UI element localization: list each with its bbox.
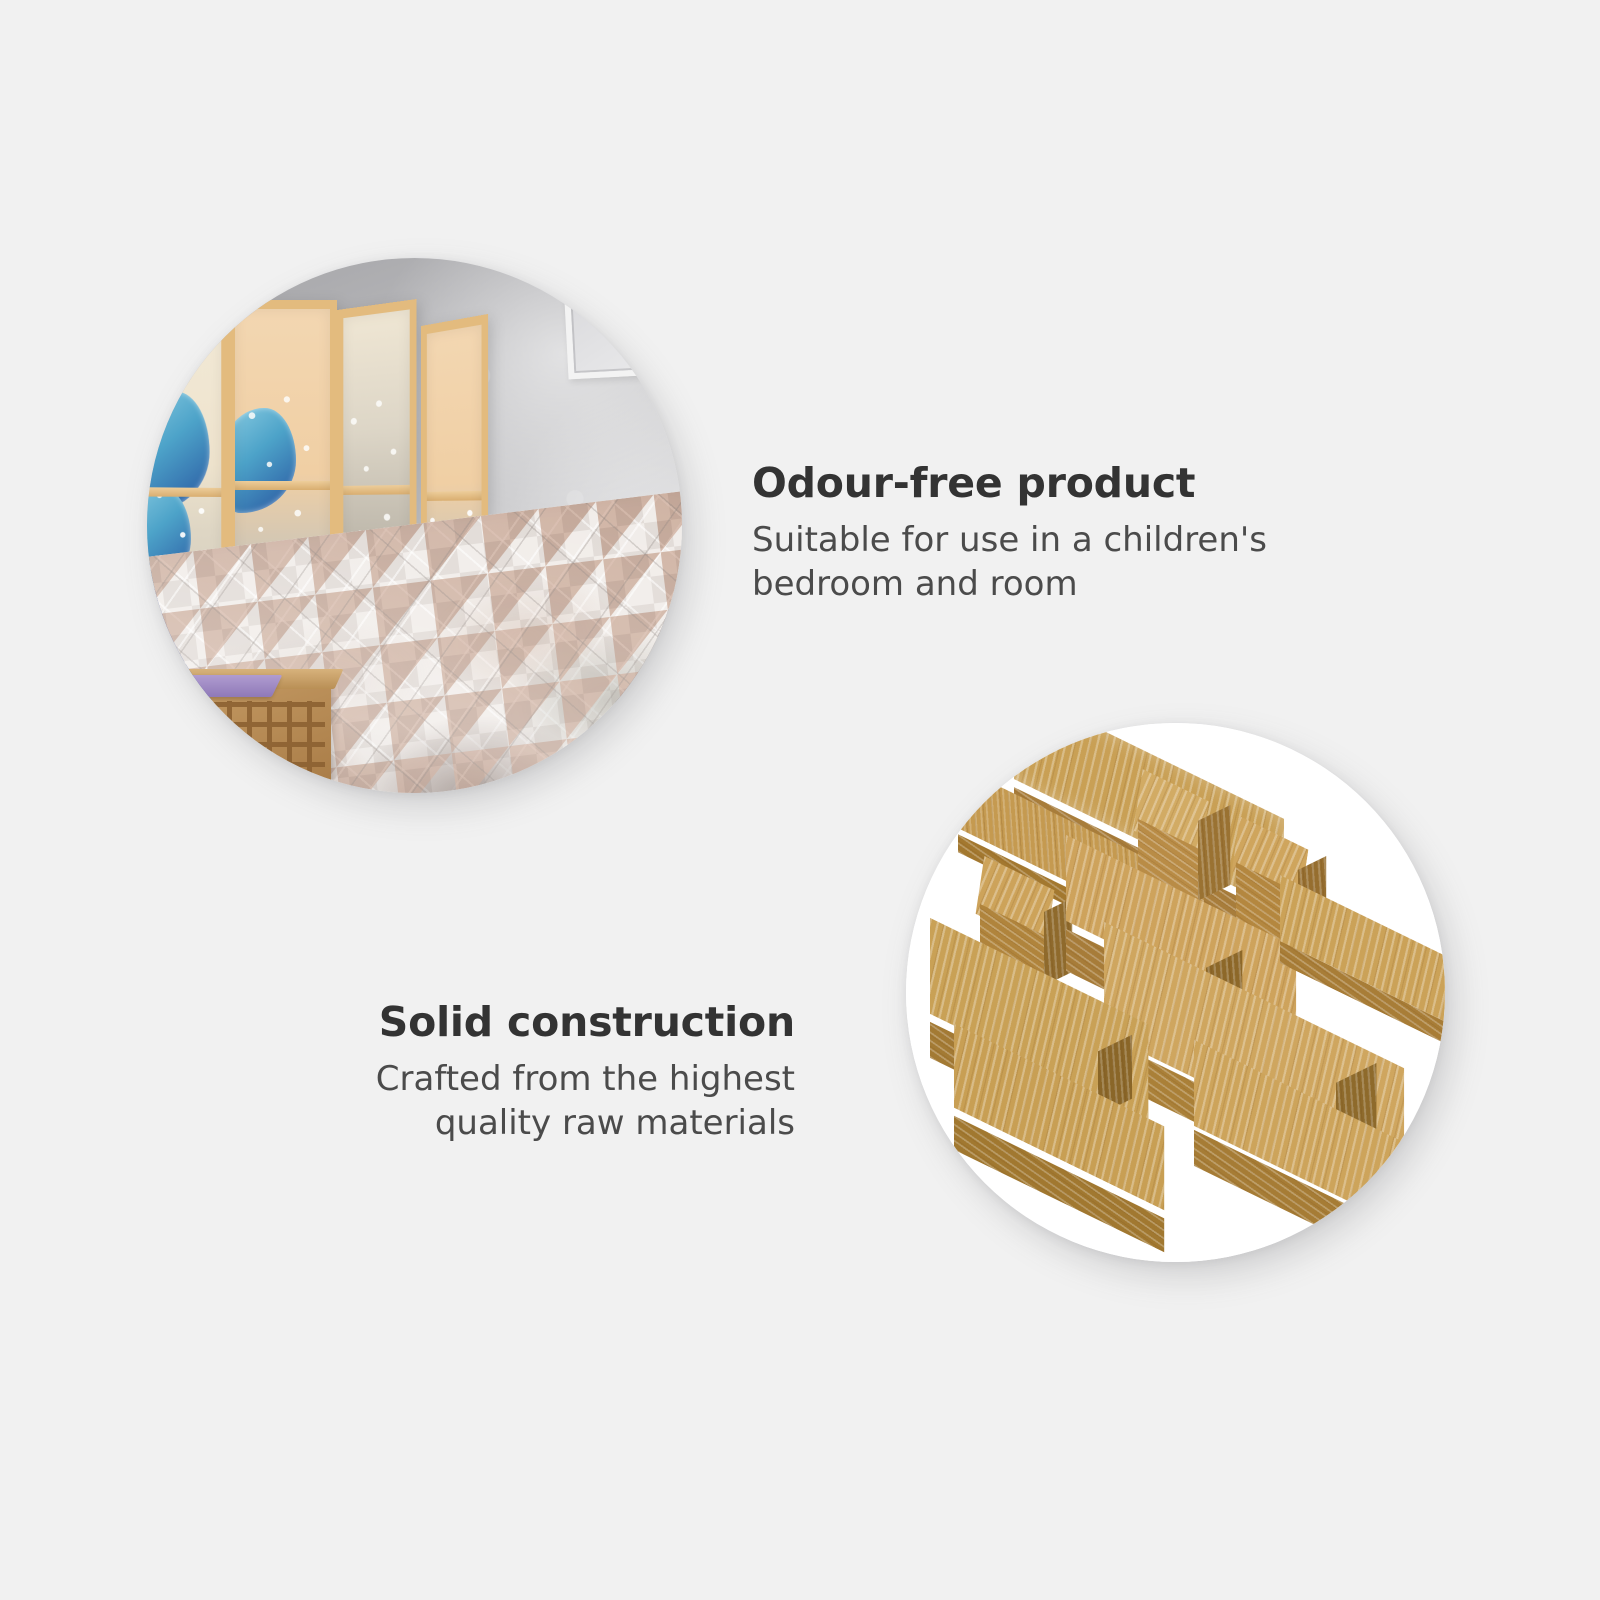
timber-scene [906, 723, 1445, 1262]
infographic-canvas: Odour-free product Suitable for use in a… [0, 0, 1600, 1600]
wooden-bench [181, 681, 331, 791]
feature-odour-free-title: Odour-free product [752, 460, 1272, 508]
feature-solid-construction-body: Crafted from the highest quality raw mat… [250, 1057, 795, 1145]
book-on-bench [147, 675, 282, 697]
bench-lattice [187, 701, 325, 787]
feature-solid-construction-copy: Solid construction Crafted from the high… [250, 999, 795, 1145]
stacked-timber-planks-photo [906, 723, 1445, 1262]
feature-odour-free-body: Suitable for use in a children's bedroom… [752, 518, 1272, 606]
wall-picture-frame [564, 277, 682, 380]
bedroom-with-room-divider-photo [147, 258, 682, 793]
feature-odour-free-copy: Odour-free product Suitable for use in a… [752, 460, 1272, 606]
feature-solid-construction-title: Solid construction [250, 999, 795, 1047]
bedroom-scene [147, 258, 682, 793]
